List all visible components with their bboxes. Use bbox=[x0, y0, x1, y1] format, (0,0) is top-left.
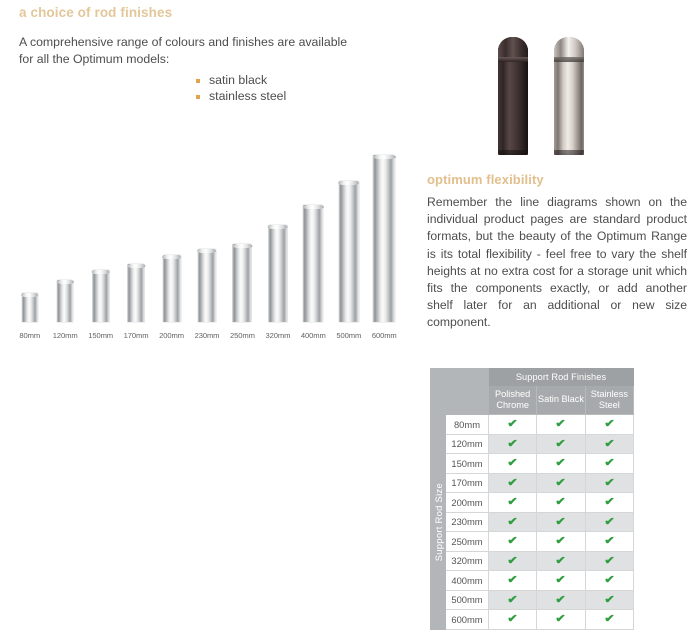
availability-cell: ✔ bbox=[585, 434, 633, 454]
rod-size-bar-chart: 80mm120mm150mm170mm200mm230mm250mm320mm4… bbox=[12, 132, 402, 344]
table-row: 600mm✔✔✔ bbox=[431, 610, 634, 630]
availability-cell: ✔ bbox=[489, 493, 537, 513]
availability-cell: ✔ bbox=[489, 551, 537, 571]
rod-bar-column: 120mm bbox=[47, 132, 82, 344]
table-column-header-row: Polished Chrome Satin Black Stainless St… bbox=[431, 386, 634, 415]
availability-cell: ✔ bbox=[585, 512, 633, 532]
row-size-label: 400mm bbox=[446, 571, 489, 591]
rod-size-label: 230mm bbox=[195, 331, 220, 340]
availability-cell: ✔ bbox=[585, 415, 633, 435]
row-size-label: 250mm bbox=[446, 532, 489, 552]
availability-cell: ✔ bbox=[489, 415, 537, 435]
availability-cell: ✔ bbox=[489, 590, 537, 610]
check-icon: ✔ bbox=[604, 571, 615, 590]
table-row: Support Rod Size80mm✔✔✔ bbox=[431, 415, 634, 435]
rod-bar-column: 250mm bbox=[225, 132, 260, 344]
check-icon: ✔ bbox=[507, 532, 518, 551]
table-body: Support Rod Size80mm✔✔✔120mm✔✔✔150mm✔✔✔1… bbox=[431, 415, 634, 630]
availability-cell: ✔ bbox=[537, 454, 585, 474]
rod-cap bbox=[498, 37, 528, 59]
rod-bar bbox=[339, 181, 359, 322]
rod-size-label: 500mm bbox=[336, 331, 361, 340]
rod-bar bbox=[268, 225, 287, 322]
check-icon: ✔ bbox=[507, 415, 518, 434]
availability-cell: ✔ bbox=[537, 473, 585, 493]
availability-cell: ✔ bbox=[585, 571, 633, 591]
availability-cell: ✔ bbox=[537, 512, 585, 532]
finish-label: stainless steel bbox=[209, 89, 286, 103]
rod-finishes-table: Support Rod Finishes Polished Chrome Sat… bbox=[430, 368, 634, 630]
column-header-satin-black: Satin Black bbox=[537, 386, 585, 415]
availability-cell: ✔ bbox=[585, 590, 633, 610]
availability-cell: ✔ bbox=[585, 551, 633, 571]
availability-cell: ✔ bbox=[489, 512, 537, 532]
rod-size-label: 80mm bbox=[19, 331, 40, 340]
rod-bar bbox=[128, 264, 145, 322]
table-group-header-row: Support Rod Finishes bbox=[431, 369, 634, 386]
availability-cell: ✔ bbox=[489, 434, 537, 454]
availability-cell: ✔ bbox=[489, 473, 537, 493]
check-icon: ✔ bbox=[556, 571, 567, 590]
side-header-support-rod-size: Support Rod Size bbox=[431, 415, 446, 630]
availability-cell: ✔ bbox=[537, 532, 585, 552]
availability-cell: ✔ bbox=[537, 415, 585, 435]
check-icon: ✔ bbox=[556, 415, 567, 434]
rod-size-label: 170mm bbox=[124, 331, 149, 340]
rod-photographs bbox=[496, 25, 606, 155]
check-icon: ✔ bbox=[604, 454, 615, 473]
row-size-label: 120mm bbox=[446, 434, 489, 454]
rod-size-label: 600mm bbox=[372, 331, 397, 340]
rod-finishes-page: { "left": { "headline": "a choice of rod… bbox=[0, 0, 700, 626]
rod-cap bbox=[554, 37, 584, 59]
check-icon: ✔ bbox=[556, 513, 567, 532]
check-icon: ✔ bbox=[507, 552, 518, 571]
rod-bar bbox=[163, 255, 181, 322]
check-icon: ✔ bbox=[556, 532, 567, 551]
check-icon: ✔ bbox=[507, 571, 518, 590]
rod-size-label: 150mm bbox=[88, 331, 113, 340]
rod-bar-column: 500mm bbox=[331, 132, 366, 344]
rod-size-label: 120mm bbox=[53, 331, 78, 340]
check-icon: ✔ bbox=[604, 552, 615, 571]
check-icon: ✔ bbox=[604, 513, 615, 532]
rod-band bbox=[554, 57, 584, 62]
check-icon: ✔ bbox=[556, 552, 567, 571]
group-header-support-rod-finishes: Support Rod Finishes bbox=[489, 369, 634, 386]
availability-cell: ✔ bbox=[489, 454, 537, 474]
row-size-label: 500mm bbox=[446, 590, 489, 610]
square-bullet-icon bbox=[196, 79, 200, 83]
rod-bar-column: 400mm bbox=[296, 132, 331, 344]
rod-bar-column: 320mm bbox=[260, 132, 295, 344]
check-icon: ✔ bbox=[507, 493, 518, 512]
list-item: stainless steel bbox=[196, 88, 286, 104]
table-row: 230mm✔✔✔ bbox=[431, 512, 634, 532]
corner-blank-cell bbox=[431, 386, 446, 415]
table-head: Support Rod Finishes Polished Chrome Sat… bbox=[431, 369, 634, 415]
table-row: 200mm✔✔✔ bbox=[431, 493, 634, 513]
check-icon: ✔ bbox=[507, 591, 518, 610]
table-row: 500mm✔✔✔ bbox=[431, 590, 634, 610]
rod-bar bbox=[373, 155, 395, 322]
check-icon: ✔ bbox=[604, 532, 615, 551]
page-headline: a choice of rod finishes bbox=[19, 5, 172, 20]
flexibility-heading: optimum flexibility bbox=[427, 172, 544, 187]
check-icon: ✔ bbox=[507, 513, 518, 532]
rod-bar-column: 150mm bbox=[83, 132, 118, 344]
rod-bar bbox=[233, 244, 252, 322]
rod-foot bbox=[498, 150, 528, 155]
check-icon: ✔ bbox=[604, 493, 615, 512]
check-icon: ✔ bbox=[604, 435, 615, 454]
row-size-label: 150mm bbox=[446, 454, 489, 474]
intro-paragraph: A comprehensive range of colours and fin… bbox=[19, 34, 364, 68]
rod-bar bbox=[303, 205, 323, 322]
availability-cell: ✔ bbox=[537, 571, 585, 591]
list-item: satin black bbox=[196, 72, 286, 88]
check-icon: ✔ bbox=[556, 454, 567, 473]
availability-cell: ✔ bbox=[489, 532, 537, 552]
check-icon: ✔ bbox=[604, 474, 615, 493]
availability-cell: ✔ bbox=[537, 590, 585, 610]
availability-cell: ✔ bbox=[489, 610, 537, 630]
check-icon: ✔ bbox=[507, 435, 518, 454]
row-size-label: 230mm bbox=[446, 512, 489, 532]
rod-size-label: 200mm bbox=[159, 331, 184, 340]
availability-cell: ✔ bbox=[585, 454, 633, 474]
rod-bar-column: 80mm bbox=[12, 132, 47, 344]
row-size-label: 200mm bbox=[446, 493, 489, 513]
corner-blank-cell bbox=[431, 369, 446, 386]
row-size-label: 80mm bbox=[446, 415, 489, 435]
row-size-label: 170mm bbox=[446, 473, 489, 493]
table-row: 170mm✔✔✔ bbox=[431, 473, 634, 493]
table-row: 150mm✔✔✔ bbox=[431, 454, 634, 474]
rod-size-label: 250mm bbox=[230, 331, 255, 340]
check-icon: ✔ bbox=[556, 435, 567, 454]
check-icon: ✔ bbox=[604, 591, 615, 610]
row-size-label: 600mm bbox=[446, 610, 489, 630]
finish-label: satin black bbox=[209, 73, 267, 87]
check-icon: ✔ bbox=[556, 591, 567, 610]
table-row: 400mm✔✔✔ bbox=[431, 571, 634, 591]
availability-cell: ✔ bbox=[585, 473, 633, 493]
availability-cell: ✔ bbox=[585, 610, 633, 630]
table-row: 120mm✔✔✔ bbox=[431, 434, 634, 454]
check-icon: ✔ bbox=[507, 474, 518, 493]
check-icon: ✔ bbox=[507, 454, 518, 473]
rod-size-label: 400mm bbox=[301, 331, 326, 340]
table-row: 250mm✔✔✔ bbox=[431, 532, 634, 552]
availability-cell: ✔ bbox=[537, 551, 585, 571]
rod-bar bbox=[57, 280, 73, 322]
rod-bar-column: 200mm bbox=[154, 132, 189, 344]
availability-cell: ✔ bbox=[537, 610, 585, 630]
rod-bar bbox=[22, 293, 38, 322]
rod-band bbox=[498, 57, 528, 62]
rod-size-label: 320mm bbox=[265, 331, 290, 340]
column-header-polished-chrome: Polished Chrome bbox=[489, 386, 537, 415]
finish-options-list: satin black stainless steel bbox=[196, 72, 286, 104]
row-size-label: 320mm bbox=[446, 551, 489, 571]
stainless-steel-rod-photo bbox=[554, 37, 584, 155]
side-header-label: Support Rod Size bbox=[433, 483, 444, 561]
corner-blank-cell bbox=[446, 369, 489, 386]
rod-foot bbox=[554, 150, 584, 155]
check-icon: ✔ bbox=[556, 474, 567, 493]
rod-bar-column: 230mm bbox=[189, 132, 224, 344]
availability-cell: ✔ bbox=[585, 532, 633, 552]
rod-bar-column: 600mm bbox=[367, 132, 402, 344]
corner-blank-cell bbox=[446, 386, 489, 415]
rod-bar bbox=[92, 270, 109, 322]
availability-cell: ✔ bbox=[537, 434, 585, 454]
rod-bar bbox=[198, 249, 216, 322]
availability-cell: ✔ bbox=[537, 493, 585, 513]
check-icon: ✔ bbox=[604, 415, 615, 434]
availability-cell: ✔ bbox=[489, 571, 537, 591]
flexibility-paragraph: Remember the line diagrams shown on the … bbox=[427, 194, 687, 332]
satin-black-rod-photo bbox=[498, 37, 528, 155]
availability-cell: ✔ bbox=[585, 493, 633, 513]
column-header-stainless-steel: Stainless Steel bbox=[585, 386, 633, 415]
check-icon: ✔ bbox=[556, 493, 567, 512]
rod-bar-column: 170mm bbox=[118, 132, 153, 344]
square-bullet-icon bbox=[196, 95, 200, 99]
table-row: 320mm✔✔✔ bbox=[431, 551, 634, 571]
